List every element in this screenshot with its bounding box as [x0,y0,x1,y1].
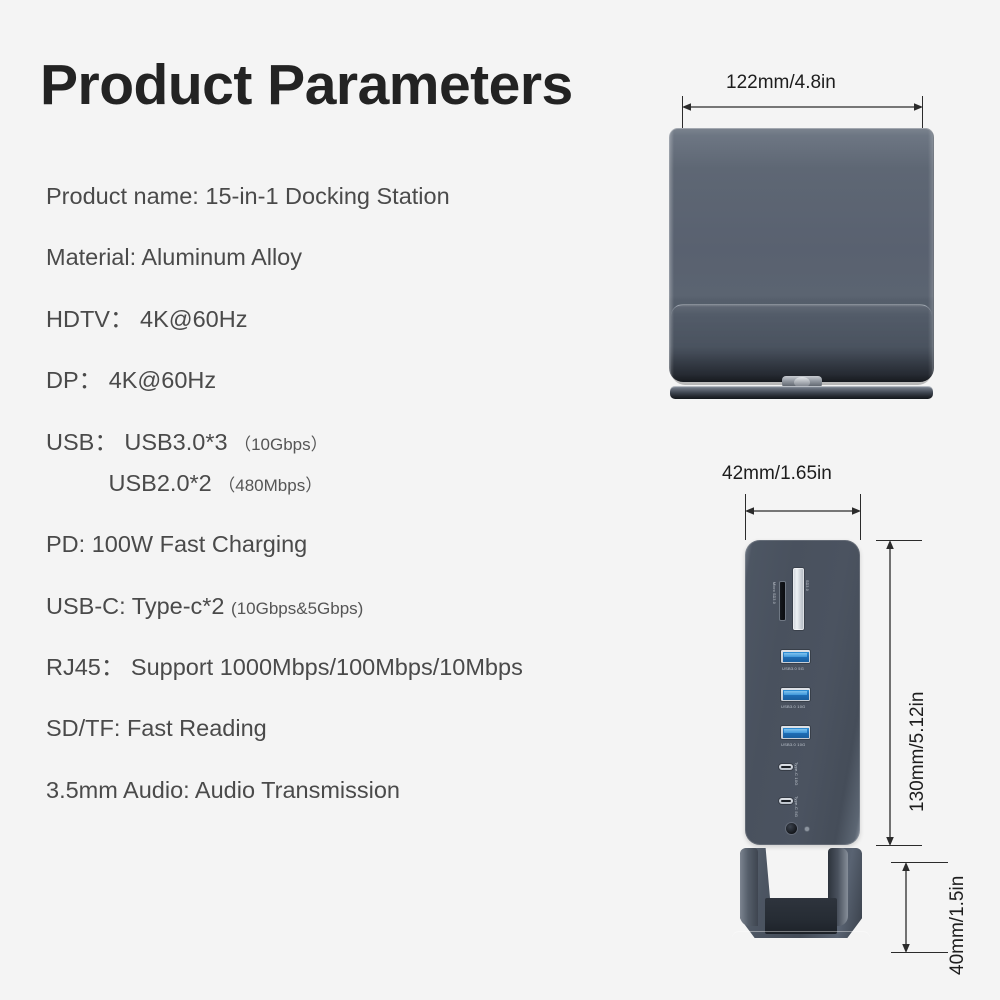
screw-icon [754,685,765,696]
spec-row-pd: PD: 100W Fast Charging [46,530,666,559]
spec-value: 4K@60Hz [140,306,247,332]
stand-cradle-inner-pad [765,898,837,934]
spec-list: Product name: 15-in-1 Docking Station Ma… [46,182,666,805]
type-c-port-1-label: Type-C 10G [794,762,799,786]
spec-label: 3.5mm Audio: [46,777,190,803]
usb-port-2-label: USB3.0 10G [781,704,805,709]
screw-icon [840,685,851,696]
spec-label: RJ45： [46,654,124,680]
usb-port-tongue [784,729,807,733]
sd-card-slot [793,568,804,630]
dimension-label-height-panel: 130mm/5.12in [907,692,929,812]
page-title: Product Parameters [40,52,573,118]
type-c-port-1 [779,764,793,770]
usb-port-1-label: USB3.0 5G [782,666,804,671]
spec-value: 4K@60Hz [109,367,216,393]
dimension-arrow-height-stand [899,862,913,953]
product-images-column: 122mm/4.8in 42mm/1.65in [650,0,1000,1000]
spec-label: PD: [46,531,85,557]
dimension-label-width-top: 122mm/4.8in [726,72,836,94]
microsd-slot-label: Micro SD3.0 [772,582,776,604]
sd-slot-label: SD3.0 [805,580,809,591]
stand-arm-left [740,848,758,926]
usb-port-tongue [784,653,807,657]
dimension-arrow-width-panel [745,504,861,518]
screw-icon [839,823,850,834]
led-indicator [805,827,809,831]
dimension-label-width-panel: 42mm/1.65in [722,463,832,485]
usb-a-port-2 [781,688,810,701]
spec-label: Material: [46,244,136,270]
spec-value: Audio Transmission [195,777,400,803]
usb-a-port-3 [781,726,810,739]
spec-row-product-name: Product name: 15-in-1 Docking Station [46,182,666,211]
spec-value: USB2.0*2 [109,470,212,496]
spec-label: DP： [46,367,102,393]
spec-row-sdtf: SD/TF: Fast Reading [46,714,666,743]
microsd-card-slot [780,582,785,620]
spec-label: SD/TF: [46,715,120,741]
spec-row-usbc: USB-C: Type-c*2 (10Gbps&5Gbps) [46,592,666,621]
spec-row-usb3: USB： USB3.0*3 （10Gbps） [46,428,666,457]
dock-base-plate [670,386,933,399]
spec-row-dp: DP： 4K@60Hz [46,366,666,395]
spec-value: Aluminum Alloy [141,244,302,270]
spec-value: Type-c*2 [132,593,225,619]
spec-value: Support 1000Mbps/100Mbps/10Mbps [131,654,523,680]
spec-value: 15-in-1 Docking Station [205,183,449,209]
spec-note: （480Mbps） [218,476,322,495]
type-c-port-2 [779,798,793,804]
spec-value: Fast Reading [127,715,267,741]
dock-body [669,128,934,382]
spec-label: Product name: [46,183,199,209]
spec-value: USB3.0*3 [124,429,227,455]
screw-icon [839,551,850,562]
spec-label: USB-C: [46,593,126,619]
dimension-arrow-height-panel [883,540,897,846]
spec-note: (10Gbps&5Gbps) [231,599,363,618]
type-c-port-2-label: Type-C 5G [794,796,799,817]
spec-row-audio: 3.5mm Audio: Audio Transmission [46,776,666,805]
spec-row-rj45: RJ45： Support 1000Mbps/100Mbps/10Mbps [46,653,666,682]
docking-station-front-view [669,128,934,400]
usb-a-port-1 [781,650,810,663]
specifications-column: Product Parameters Product name: 15-in-1… [0,0,670,1000]
spec-note: （10Gbps） [234,435,328,454]
screw-icon [755,823,766,834]
stand-base-plate [732,931,870,950]
dimension-arrow-width-top [682,100,923,114]
dimension-label-height-stand: 40mm/1.5in [947,876,969,975]
audio-jack-port [786,823,797,834]
screw-icon [755,551,766,562]
spec-label: USB： [46,429,118,455]
stand-cradle-view [732,848,877,968]
usb-port-3-label: USB3.0 10G [781,742,805,747]
spec-row-hdtv: HDTV： 4K@60Hz [46,305,666,334]
port-panel-view: Micro SD3.0 SD3.0 USB3.0 5G USB3.0 10G U… [745,540,860,845]
usb-port-tongue [784,691,807,695]
spec-label: HDTV： [46,306,133,332]
spec-value: 100W Fast Charging [92,531,308,557]
spec-row-usb2: USB2.0*2 （480Mbps） [46,469,666,498]
spec-row-material: Material: Aluminum Alloy [46,243,666,272]
dock-lower-lip [671,304,932,385]
